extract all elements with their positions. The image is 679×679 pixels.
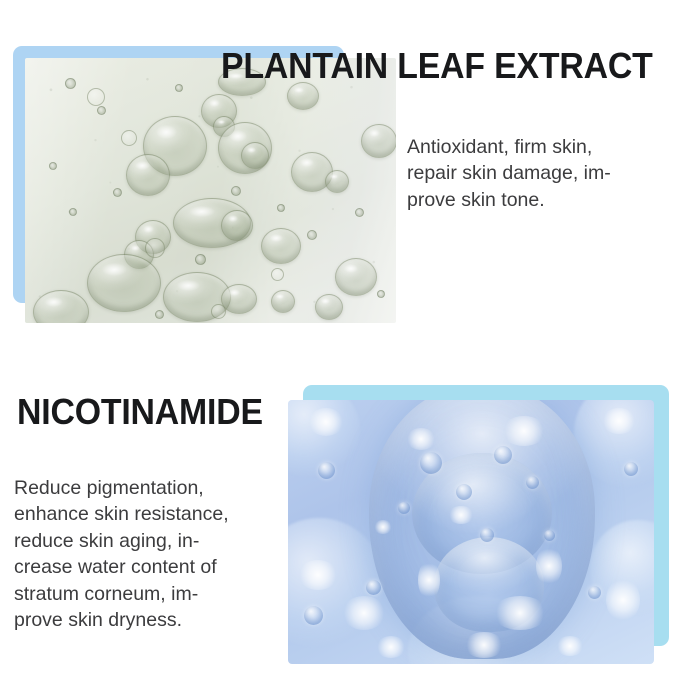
water-highlight <box>342 596 386 630</box>
water-bubble <box>318 462 335 479</box>
oil-bubble-ring <box>121 130 137 146</box>
water-highlight <box>602 408 636 434</box>
water-bubble <box>398 502 410 514</box>
oil-bubble <box>261 228 301 264</box>
oil-bubble <box>325 170 349 193</box>
plantain-leaf-extract-serum-photo <box>25 58 396 323</box>
water-bubble <box>588 586 601 599</box>
water-highlight <box>536 546 562 586</box>
water-highlight <box>406 428 436 450</box>
oil-bubble-ring <box>87 88 105 106</box>
water-highlight <box>606 578 640 622</box>
water-bubble <box>480 528 494 542</box>
oil-bubble <box>221 210 253 241</box>
oil-bubble <box>87 254 161 312</box>
section-heading-plantain-leaf-extract: PLANTAIN LEAF EXTRACT <box>221 46 653 86</box>
oil-bubble-small <box>175 84 183 92</box>
oil-bubble-ring <box>211 304 226 319</box>
water-highlight <box>308 408 344 436</box>
oil-bubble <box>287 82 319 110</box>
water-bubble <box>544 530 555 541</box>
nicotinamide-water-photo <box>288 400 654 664</box>
oil-bubble-small <box>69 208 77 216</box>
oil-bubble <box>241 142 269 169</box>
water-highlight <box>464 632 504 658</box>
water-bubble <box>526 476 539 489</box>
water-highlight <box>448 506 474 524</box>
section-body-plantain-leaf-extract: Antioxidant, firm skin, repair skin dama… <box>407 134 657 214</box>
water-bubble <box>366 580 381 595</box>
water-highlight <box>376 636 406 658</box>
oil-bubble <box>126 154 170 196</box>
oil-bubble-ring <box>271 268 284 281</box>
oil-bubble <box>335 258 377 296</box>
section-nicotinamide: NICOTINAMIDE Reduce pigmentation, enhanc… <box>0 340 679 679</box>
water-highlight <box>556 636 584 656</box>
oil-bubble-small <box>231 186 241 196</box>
water-highlight <box>374 520 392 534</box>
water-highlight <box>502 416 546 446</box>
water-bubble <box>456 484 472 500</box>
oil-bubble-small <box>377 290 385 298</box>
oil-bubble <box>271 290 295 313</box>
water-highlight <box>418 560 440 600</box>
section-heading-nicotinamide: NICOTINAMIDE <box>17 392 263 432</box>
infographic-page: PLANTAIN LEAF EXTRACT Antioxidant, firm … <box>0 0 679 679</box>
oil-bubble-small <box>277 204 285 212</box>
oil-bubble-small <box>155 310 164 319</box>
oil-bubble-small <box>355 208 364 217</box>
oil-bubble <box>361 124 396 158</box>
water-highlight <box>298 560 338 590</box>
oil-bubble-small <box>49 162 57 170</box>
oil-bubble <box>221 284 257 314</box>
water-bubble <box>624 462 638 476</box>
water-bubble <box>420 452 442 474</box>
oil-bubble <box>315 294 343 320</box>
water-bubble <box>304 606 323 625</box>
water-highlight <box>492 596 548 630</box>
section-body-nicotinamide: Reduce pigmentation, enhance skin resist… <box>14 475 274 634</box>
oil-bubble-small <box>97 106 106 115</box>
oil-bubble-small <box>113 188 122 197</box>
oil-bubble-small <box>195 254 206 265</box>
water-bubble <box>494 446 512 464</box>
oil-bubble-small <box>65 78 76 89</box>
oil-bubble-ring <box>145 238 165 258</box>
section-plantain-leaf-extract: PLANTAIN LEAF EXTRACT Antioxidant, firm … <box>0 0 679 340</box>
oil-bubble-small <box>307 230 317 240</box>
